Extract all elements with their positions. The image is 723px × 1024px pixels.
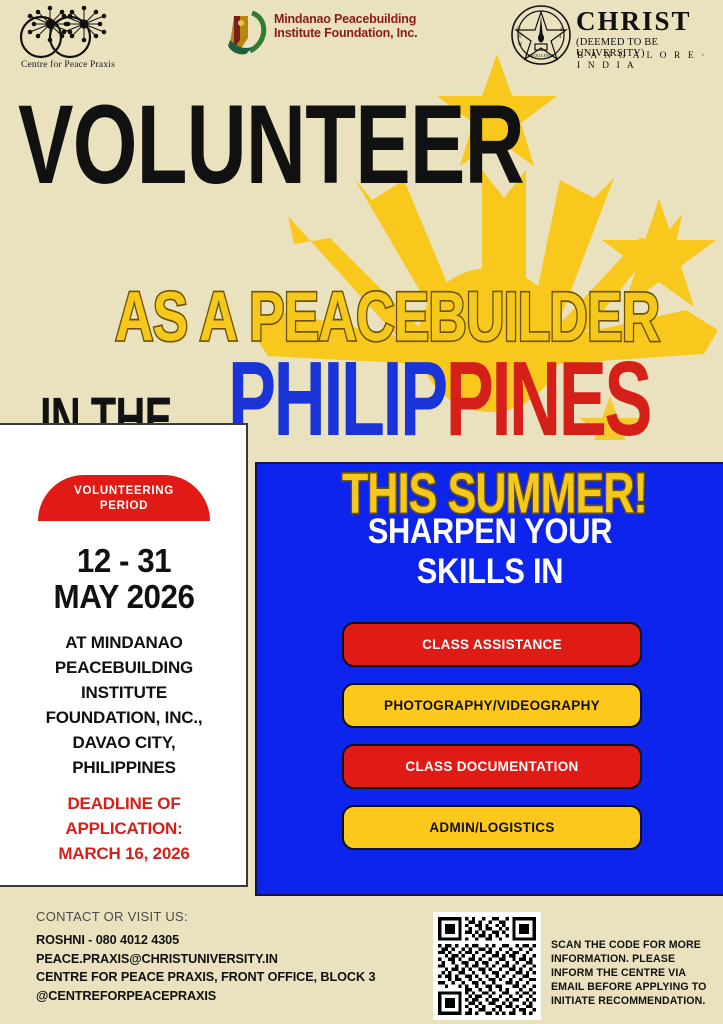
- date-line1: 12 - 31: [6, 543, 242, 579]
- mpi-line2: Institute Foundation, Inc.: [274, 26, 424, 40]
- dandelion-icon: [8, 4, 128, 62]
- headline-philippines: PHILIPPINES: [228, 338, 650, 460]
- volunteering-period-badge-text: VOLUNTEERING PERIOD: [38, 484, 210, 514]
- badge-line2: PERIOD: [38, 499, 210, 514]
- christ-seal-icon: EXCELLENCE C H R 2 4: [510, 4, 572, 66]
- volunteering-dates: 12 - 31 MAY 2026: [6, 543, 242, 615]
- centre-for-peace-praxis-label: Centre for Peace Praxis: [8, 60, 128, 70]
- scan-line: INFORMATION. PLEASE: [551, 952, 723, 966]
- svg-text:EXCELLENCE: EXCELLENCE: [528, 53, 554, 58]
- skill-class-documentation[interactable]: CLASS DOCUMENTATION: [342, 744, 642, 789]
- mindanao-logo-text: Mindanao Peacebuilding Institute Foundat…: [274, 12, 424, 40]
- badge-line1: VOLUNTEERING: [38, 484, 210, 499]
- poster: Centre for Peace Praxis Mindanao Peacebu…: [0, 0, 723, 1024]
- headline-this-summer: THIS SUMMER!: [342, 460, 647, 526]
- skill-label: CLASS ASSISTANCE: [422, 637, 562, 652]
- headline-block: VOLUNTEER AS A PEACEBUILDER IN THE PHILI…: [0, 86, 723, 436]
- scan-line: INITIATE RECOMMENDATION.: [551, 994, 723, 1008]
- contact-line-phone: ROSHNI - 080 4012 4305: [36, 931, 375, 950]
- venue-line: AT MINDANAO: [14, 630, 234, 655]
- skill-class-assistance[interactable]: CLASS ASSISTANCE: [342, 622, 642, 667]
- headline-pines: PINES: [446, 339, 650, 458]
- skill-label: CLASS DOCUMENTATION: [405, 759, 578, 774]
- headline-philip: PHILIP: [228, 339, 446, 458]
- venue-line: DAVAO CITY,: [14, 730, 234, 755]
- venue-line: PHILIPPINES: [14, 755, 234, 780]
- date-line2: MAY 2026: [6, 579, 242, 615]
- christ-university-logo: EXCELLENCE C H R 2 4 CHRIST (DEEMED TO B…: [510, 4, 715, 68]
- contact-details: ROSHNI - 080 4012 4305 PEACE.PRAXIS@CHRI…: [36, 931, 375, 1005]
- deadline-line: APPLICATION:: [14, 816, 234, 841]
- scan-line: EMAIL BEFORE APPLYING TO: [551, 980, 723, 994]
- volunteering-info-panel: VOLUNTEERING PERIOD 12 - 31 MAY 2026 AT …: [0, 423, 248, 887]
- skill-admin-logistics[interactable]: ADMIN/LOGISTICS: [342, 805, 642, 850]
- venue-line: INSTITUTE: [14, 680, 234, 705]
- scan-line: SCAN THE CODE FOR MORE: [551, 938, 723, 952]
- centre-for-peace-praxis-logo: Centre for Peace Praxis: [8, 4, 128, 76]
- mpi-line1: Mindanao Peacebuilding: [274, 12, 424, 26]
- scan-line: INFORM THE CENTRE VIA: [551, 966, 723, 980]
- contact-line-handle: @CENTREFORPEACEPRAXIS: [36, 987, 375, 1006]
- qr-code-image: [438, 917, 536, 1015]
- header-logos: Centre for Peace Praxis Mindanao Peacebu…: [0, 0, 723, 78]
- scan-instructions: SCAN THE CODE FOR MORE INFORMATION. PLEA…: [551, 938, 723, 1008]
- skill-label: PHOTOGRAPHY/VIDEOGRAPHY: [384, 698, 600, 713]
- skills-heading-line2: SKILLS IN: [285, 552, 695, 592]
- venue-line: FOUNDATION, INC.,: [14, 705, 234, 730]
- venue-line: PEACEBUILDING: [14, 655, 234, 680]
- christ-city-text: B A N G A L O R E · I N D I A: [577, 51, 715, 71]
- deadline-line: MARCH 16, 2026: [14, 841, 234, 866]
- headline-volunteer: VOLUNTEER: [18, 81, 524, 210]
- mindanao-peacebuilding-logo: Mindanao Peacebuilding Institute Foundat…: [222, 10, 422, 60]
- contact-heading: CONTACT OR VISIT US:: [36, 909, 188, 924]
- footer: CONTACT OR VISIT US: ROSHNI - 080 4012 4…: [0, 896, 723, 1024]
- skills-panel: SHARPEN YOUR SKILLS IN CLASS ASSISTANCE …: [255, 462, 723, 896]
- contact-line-address: CENTRE FOR PEACE PRAXIS, FRONT OFFICE, B…: [36, 968, 375, 987]
- application-deadline: DEADLINE OF APPLICATION: MARCH 16, 2026: [14, 791, 234, 866]
- qr-code[interactable]: [433, 912, 541, 1020]
- skill-photography-videography[interactable]: PHOTOGRAPHY/VIDEOGRAPHY: [342, 683, 642, 728]
- mpi-emblem-icon: [222, 10, 270, 56]
- volunteering-period-badge: VOLUNTEERING PERIOD: [38, 475, 210, 521]
- venue-address: AT MINDANAO PEACEBUILDING INSTITUTE FOUN…: [14, 630, 234, 780]
- skill-label: ADMIN/LOGISTICS: [429, 820, 554, 835]
- svg-text:4: 4: [559, 35, 562, 40]
- skills-list: CLASS ASSISTANCE PHOTOGRAPHY/VIDEOGRAPHY…: [342, 622, 642, 866]
- deadline-line: DEADLINE OF: [14, 791, 234, 816]
- contact-line-email: PEACE.PRAXIS@CHRISTUNIVERSITY.IN: [36, 950, 375, 969]
- christ-wordmark: CHRIST: [576, 6, 692, 37]
- svg-text:R: R: [519, 41, 524, 45]
